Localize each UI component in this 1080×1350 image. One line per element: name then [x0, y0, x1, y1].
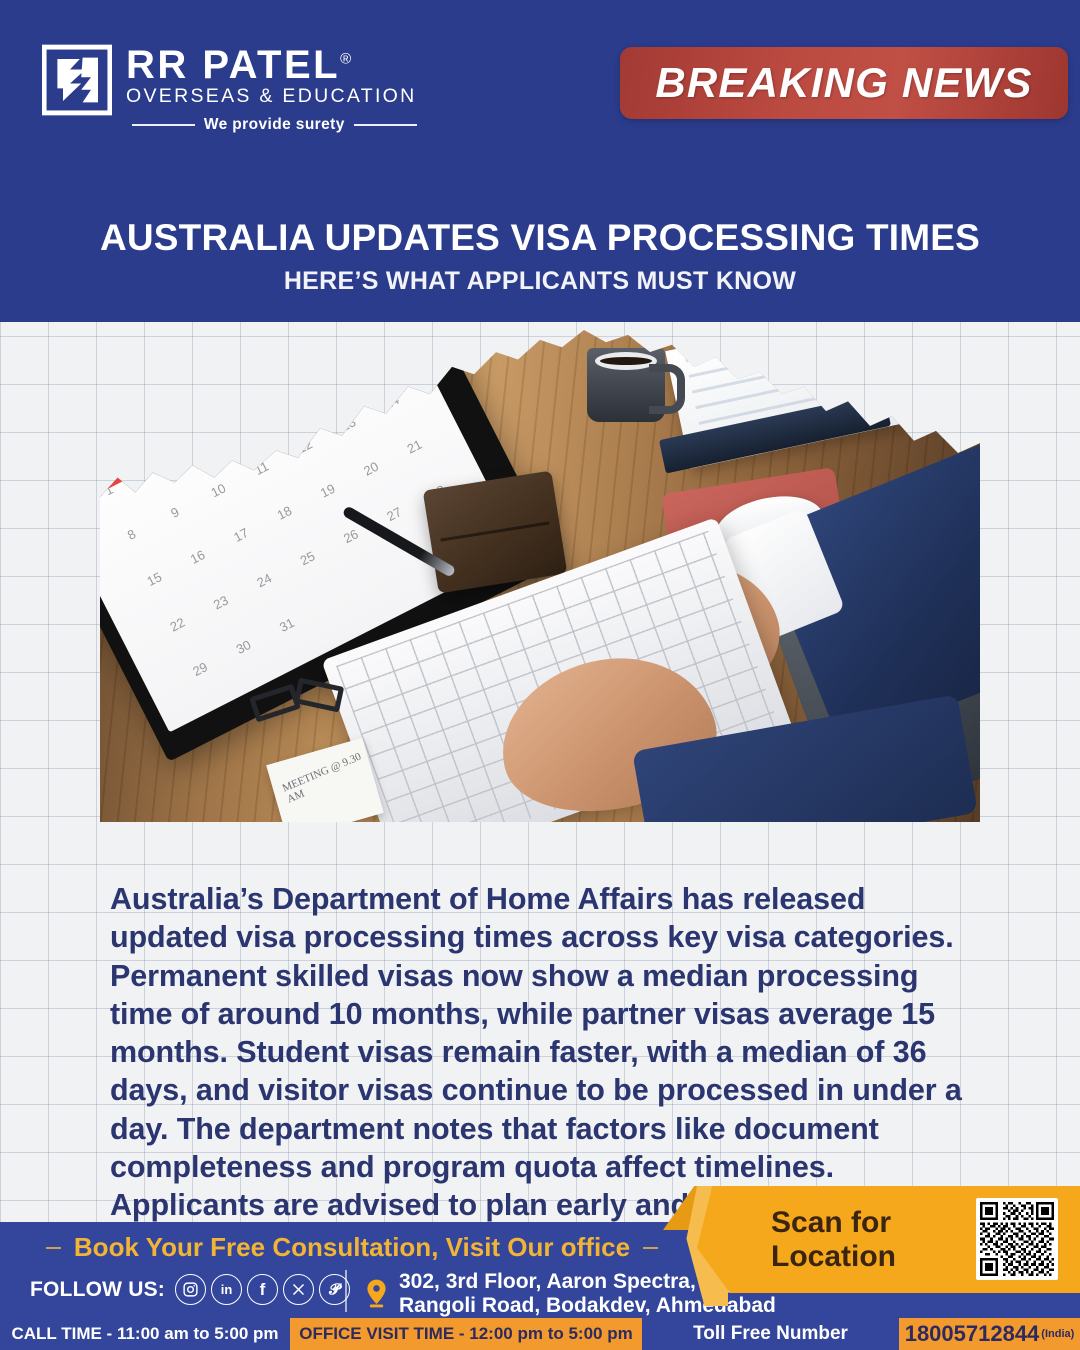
brand-tagline: We provide surety	[204, 116, 345, 134]
binder-clips	[252, 682, 372, 728]
follow-us-label: FOLLOW US:	[30, 1278, 165, 1302]
toll-free-label-segment: Toll Free Number	[642, 1318, 899, 1350]
cta-rule-left	[46, 1247, 61, 1249]
scan-ribbon: Scan for Location	[697, 1186, 1080, 1293]
qr-code-icon[interactable]	[976, 1198, 1058, 1280]
instagram-icon[interactable]	[175, 1274, 206, 1305]
registered-mark: ®	[340, 51, 351, 68]
cta-rule-right	[643, 1247, 658, 1249]
page-title: AUSTRALIA UPDATES VISA PROCESSING TIMES	[0, 217, 1080, 259]
page-subtitle: HERE’S WHAT APPLICANTS MUST KNOW	[0, 267, 1080, 296]
sticky-note-text: MEETING @ 9.30 AM	[281, 748, 373, 805]
header-banner: RR PATEL® OVERSEAS & EDUCATION We provid…	[0, 0, 1080, 322]
map-pin-icon	[365, 1279, 388, 1309]
cta-row: Book Your Free Consultation, Visit Our o…	[46, 1232, 658, 1263]
footer-divider	[345, 1270, 347, 1312]
rr-monogram-icon	[42, 44, 112, 116]
facebook-icon[interactable]: f	[247, 1274, 278, 1305]
brand-subtitle: OVERSEAS & EDUCATION	[126, 87, 417, 107]
toll-free-region: (India)	[1041, 1328, 1074, 1340]
toll-free-number-segment[interactable]: 18005712844(India)	[899, 1318, 1080, 1350]
tagline-rule-right	[354, 124, 417, 126]
toll-free-number: 18005712844	[905, 1321, 1040, 1347]
coffee-mug	[587, 348, 665, 422]
scan-label: Scan for Location	[771, 1206, 896, 1274]
article-photo: 1234567 891011121314 15161718192021 2223…	[100, 330, 980, 822]
breaking-news-badge: BREAKING NEWS	[620, 47, 1068, 119]
leather-wallet	[423, 470, 568, 593]
x-twitter-icon[interactable]	[283, 1274, 314, 1305]
social-icon-group: in f 𝓟	[175, 1274, 350, 1305]
cta-label: Book Your Free Consultation, Visit Our o…	[74, 1232, 630, 1263]
brand-name: RR PATEL	[126, 43, 340, 87]
info-bar: CALL TIME - 11:00 am to 5:00 pm OFFICE V…	[0, 1318, 1080, 1350]
tagline-rule-left	[132, 124, 195, 126]
scan-line-2: Location	[771, 1240, 896, 1274]
linkedin-icon[interactable]: in	[211, 1274, 242, 1305]
scan-line-1: Scan for	[771, 1206, 896, 1240]
brand-logo[interactable]: RR PATEL® OVERSEAS & EDUCATION We provid…	[42, 44, 417, 134]
office-visit-segment: OFFICE VISIT TIME - 12:00 pm to 5:00 pm	[290, 1318, 642, 1350]
call-time-segment: CALL TIME - 11:00 am to 5:00 pm	[0, 1318, 290, 1350]
breaking-news-label: BREAKING NEWS	[655, 59, 1032, 107]
follow-us-row: FOLLOW US: in f 𝓟	[30, 1274, 350, 1305]
poster-canvas: RR PATEL® OVERSEAS & EDUCATION We provid…	[0, 0, 1080, 1350]
brand-tagline-row: We provide surety	[126, 116, 417, 134]
